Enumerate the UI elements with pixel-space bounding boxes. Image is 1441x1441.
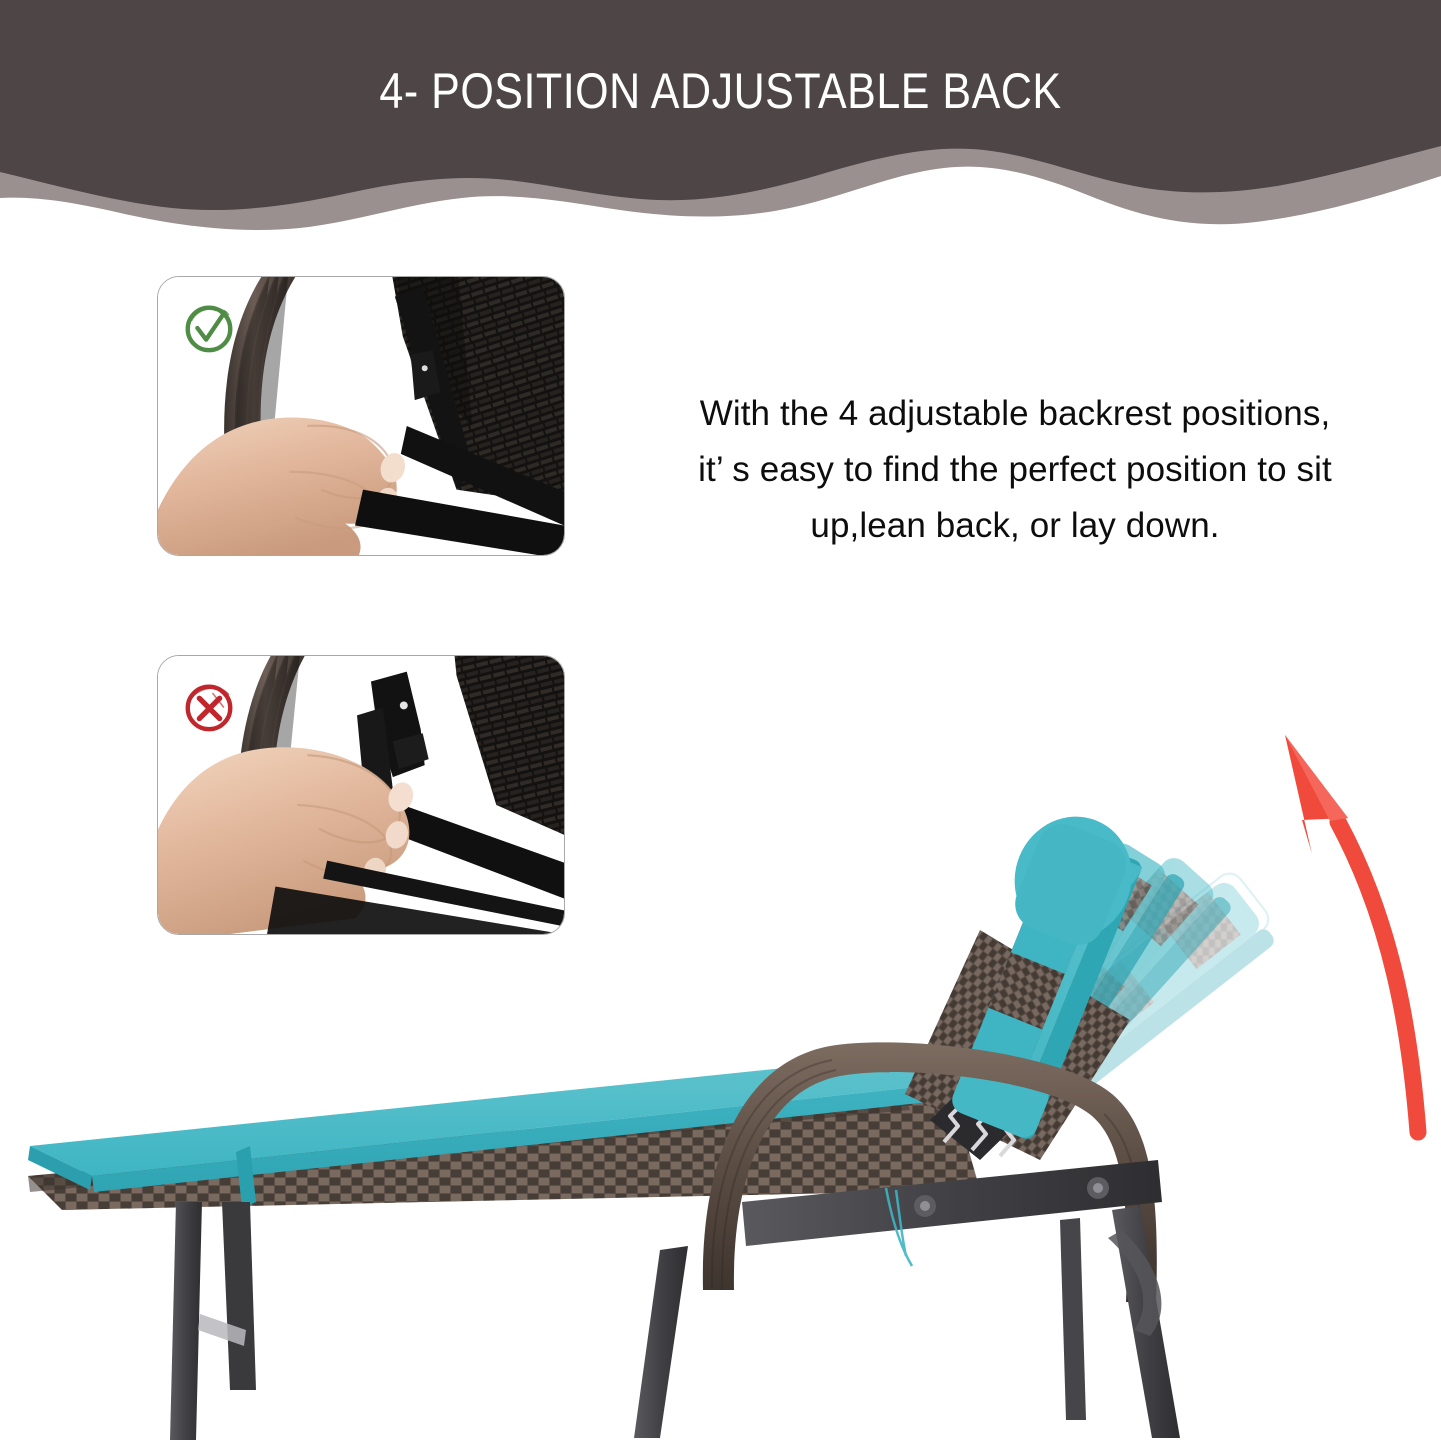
cross-circle-icon [180, 678, 238, 736]
leg-rear-inner [1060, 1218, 1086, 1420]
description-line-2: it’ s easy to find the perfect position … [620, 442, 1410, 498]
leg-front-left-a [170, 1202, 202, 1440]
description-line-1: With the 4 adjustable backrest positions… [620, 386, 1410, 442]
recline-arrow-icon [1285, 735, 1418, 1132]
leg-front-left-b [222, 1202, 256, 1390]
check-circle-icon [180, 299, 238, 357]
leg-rear-left [634, 1246, 688, 1438]
description-line-3: up,lean back, or lay down. [620, 498, 1410, 554]
product-illustration [0, 690, 1441, 1441]
callout-card-correct [157, 276, 565, 556]
infographic-page: 4- POSITION ADJUSTABLE BACK [0, 0, 1441, 1441]
header-banner: 4- POSITION ADJUSTABLE BACK [0, 0, 1441, 260]
description-text: With the 4 adjustable backrest positions… [620, 386, 1410, 554]
page-title: 4- POSITION ADJUSTABLE BACK [101, 62, 1340, 120]
